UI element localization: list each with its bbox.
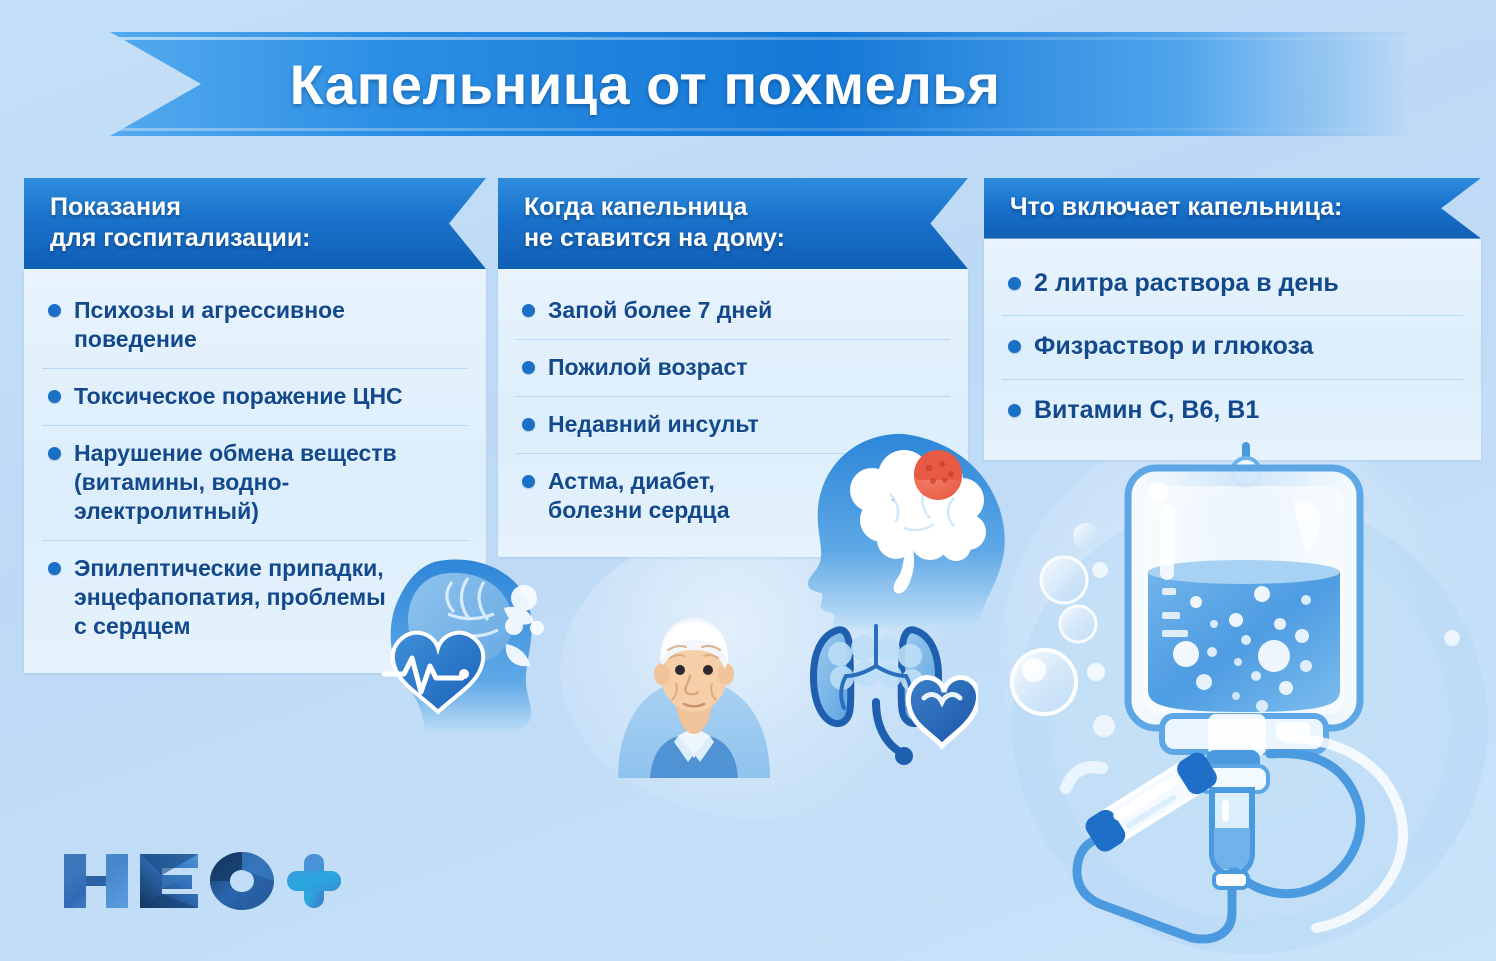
bullet-icon (1008, 277, 1021, 290)
list-item: Пожилой возраст (516, 340, 950, 397)
panel-header-drip-contents: Что включает капельница: (984, 178, 1481, 239)
panel-header-line1: Когда капельница (524, 192, 908, 223)
list-item: 2 литра раствора в день (1002, 253, 1463, 317)
elderly-man-avatar (604, 600, 784, 780)
list-item: Токсическое поражение ЦНС (42, 369, 468, 426)
bullet-icon (1008, 340, 1021, 353)
list-item-label: Физраствор и глюкоза (1034, 331, 1313, 363)
bullet-icon (1008, 404, 1021, 417)
panel-header-line1: Показания (50, 192, 426, 223)
head-stroke-icon (786, 428, 1026, 638)
list-item-label: Пожилой возраст (548, 353, 748, 382)
panel-header-line2: для госпитализации: (50, 223, 426, 254)
bullet-icon (48, 447, 61, 460)
list-item-label: Запой более 7 дней (548, 296, 772, 325)
bullet-icon (522, 304, 535, 317)
list-item: Нарушение обмена веществ (витамины, водн… (42, 426, 468, 541)
panel-drip-contents: Что включает капельница: 2 литра раствор… (984, 178, 1481, 460)
panel-header-line2: не ставится на дому: (524, 223, 908, 254)
bullet-icon (48, 390, 61, 403)
list-item-label: Астма, диабет, болезни сердца (548, 467, 730, 525)
bullet-icon (522, 475, 535, 488)
list-item-label: 2 литра раствора в день (1034, 268, 1339, 300)
iv-drip-bag-illustration (1000, 424, 1496, 961)
list-item-label: Токсическое поражение ЦНС (74, 382, 403, 411)
list-item: Физраствор и глюкоза (1002, 316, 1463, 380)
brain-heart-pulse-icon (364, 548, 574, 738)
bullet-icon (48, 562, 61, 575)
neo-plus-logo: НЕО+ (58, 836, 348, 926)
page-title: Капельница от похмелья (290, 52, 1231, 117)
list-item-label: Эпилептические припадки, энцефапопатия, … (74, 554, 386, 641)
lungs-heart-icon (798, 614, 978, 769)
list-item-label: Недавний инсульт (548, 410, 759, 439)
panel-header-hospitalization: Показания для госпитализации: (24, 178, 486, 269)
list-item: Запой более 7 дней (516, 283, 950, 340)
list-item-label: Психозы и агрессивное поведение (74, 296, 345, 354)
list-item: Психозы и агрессивное поведение (42, 283, 468, 369)
panel-header-line1: Что включает капельница: (1010, 192, 1421, 223)
title-ribbon: Капельница от похмелья (110, 32, 1410, 136)
bullet-icon (522, 361, 535, 374)
bullet-icon (522, 418, 535, 431)
panel-header-not-at-home: Когда капельница не ставится на дому: (498, 178, 968, 269)
bullet-icon (48, 304, 61, 317)
list-item-label: Витамин C, B6, B1 (1034, 395, 1259, 427)
list-item-label: Нарушение обмена веществ (витамины, водн… (74, 439, 464, 526)
